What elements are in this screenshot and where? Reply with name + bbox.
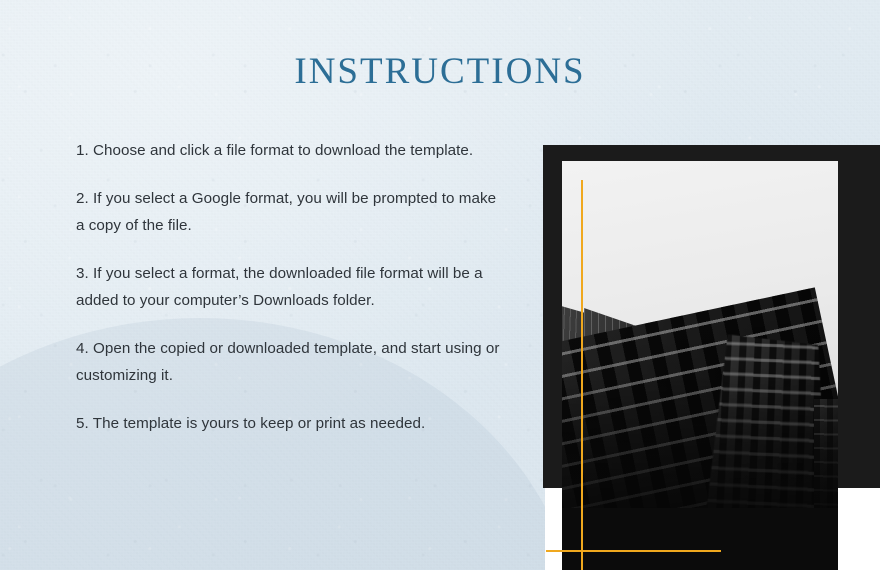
list-item: 1. Choose and click a file format to dow… xyxy=(76,137,506,164)
white-block-right xyxy=(838,488,880,570)
photo-composition xyxy=(543,145,880,570)
instructions-slide: INSTRUCTIONS 1. Choose and click a file … xyxy=(0,0,880,570)
accent-line-vertical xyxy=(581,180,583,570)
list-item: 4. Open the copied or downloaded templat… xyxy=(76,335,508,389)
accent-line-horizontal xyxy=(546,550,721,552)
list-item: 5. The template is yours to keep or prin… xyxy=(76,410,508,437)
list-item: 3. If you select a format, the downloade… xyxy=(76,260,506,314)
instructions-list: 1. Choose and click a file format to dow… xyxy=(76,137,506,437)
photo-bottom-solid xyxy=(562,508,838,570)
list-item: 2. If you select a Google format, you wi… xyxy=(76,185,506,239)
skyscraper-photo xyxy=(562,161,838,570)
page-title: INSTRUCTIONS xyxy=(0,50,880,93)
